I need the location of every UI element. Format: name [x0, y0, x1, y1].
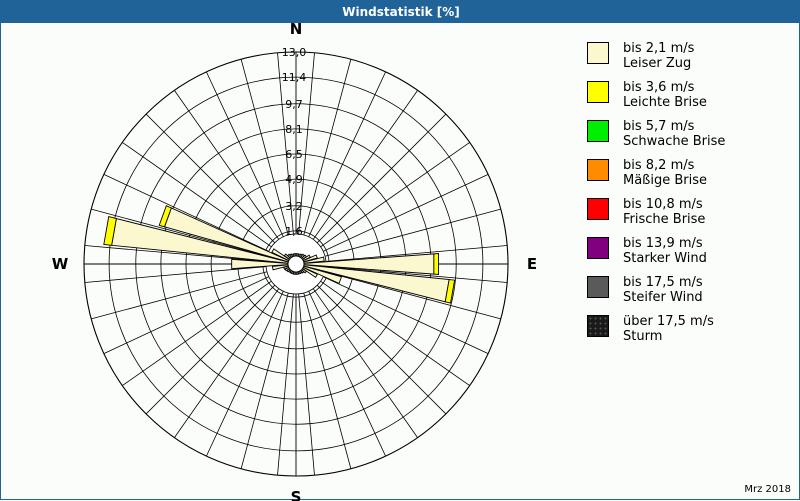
compass-label-east: E [527, 255, 537, 273]
legend-name: Steifer Wind [623, 290, 703, 305]
legend-label: bis 3,6 m/sLeichte Brise [623, 80, 707, 110]
legend-color-swatch [587, 42, 609, 64]
legend-color-swatch [587, 81, 609, 103]
grid-spoke [302, 114, 446, 258]
compass-label-north: N [290, 23, 303, 38]
legend-label: bis 8,2 m/sMäßige Brise [623, 158, 707, 188]
legend-name: Schwache Brise [623, 134, 725, 149]
legend-color-swatch [587, 198, 609, 220]
legend: bis 2,1 m/sLeiser Zugbis 3,6 m/sLeichte … [587, 41, 797, 353]
grid-spoke [122, 269, 289, 386]
compass-label-west: W [52, 255, 69, 273]
grid-spoke [304, 266, 501, 319]
legend-label: bis 10,8 m/sFrische Brise [623, 197, 705, 227]
grid-spoke [304, 209, 501, 262]
legend-name: Frische Brise [623, 212, 705, 227]
legend-speed: bis 17,5 m/s [623, 275, 703, 290]
legend-speed: bis 5,7 m/s [623, 119, 725, 134]
radial-tick-label: 1,6 [285, 225, 303, 238]
legend-name: Sturm [623, 329, 714, 344]
legend-label: bis 17,5 m/sSteifer Wind [623, 275, 703, 305]
legend-speed: bis 8,2 m/s [623, 158, 707, 173]
legend-item: bis 10,8 m/sFrische Brise [587, 197, 797, 227]
legend-speed: bis 2,1 m/s [623, 41, 694, 56]
legend-label: bis 5,7 m/sSchwache Brise [623, 119, 725, 149]
radial-tick-label: 4,9 [285, 173, 303, 186]
legend-color-swatch [587, 120, 609, 142]
grid-spoke [174, 271, 291, 438]
windrose-petal-segment [293, 254, 295, 257]
legend-item: bis 5,7 m/sSchwache Brise [587, 119, 797, 149]
legend-name: Leichte Brise [623, 95, 707, 110]
windrose-petal-segment [434, 254, 439, 275]
legend-label: bis 2,1 m/sLeiser Zug [623, 41, 694, 71]
grid-spoke [298, 59, 351, 256]
grid-spoke [241, 272, 294, 469]
radial-tick-label: 13,0 [282, 46, 307, 59]
legend-label: bis 13,9 m/sStarker Wind [623, 236, 707, 266]
window-titlebar: Windstatistik [%] [1, 1, 800, 23]
grid-spoke [298, 272, 351, 469]
legend-speed: bis 10,8 m/s [623, 197, 705, 212]
legend-item: bis 2,1 m/sLeiser Zug [587, 41, 797, 71]
compass-label-south: S [291, 488, 302, 501]
legend-name: Starker Wind [623, 251, 707, 266]
grid-spoke [301, 271, 418, 438]
radial-tick-label: 6,5 [285, 148, 303, 161]
grid-spoke [146, 270, 290, 414]
radial-tick-label: 9,7 [285, 98, 303, 111]
windstatistik-window: Windstatistik [%] 1,63,24,96,58,19,711,4… [0, 0, 800, 500]
legend-color-swatch [587, 315, 609, 337]
legend-name: Leiser Zug [623, 56, 694, 71]
footer-date: Mrz 2018 [744, 484, 791, 495]
legend-color-swatch [587, 237, 609, 259]
polar-grid [84, 52, 508, 476]
legend-label: über 17,5 m/sSturm [623, 314, 714, 344]
legend-speed: über 17,5 m/s [623, 314, 714, 329]
grid-spoke [301, 90, 418, 257]
window-title: Windstatistik [%] [342, 5, 459, 19]
legend-speed: bis 13,9 m/s [623, 236, 707, 251]
grid-spoke [91, 266, 288, 319]
legend-speed: bis 3,6 m/s [623, 80, 707, 95]
legend-item: bis 17,5 m/sSteifer Wind [587, 275, 797, 305]
legend-color-swatch [587, 276, 609, 298]
radial-tick-label: 3,2 [285, 200, 303, 213]
legend-item: über 17,5 m/sSturm [587, 314, 797, 344]
radial-tick-label: 8,1 [285, 123, 303, 136]
legend-item: bis 13,9 m/sStarker Wind [587, 236, 797, 266]
legend-name: Mäßige Brise [623, 173, 707, 188]
radial-tick-label: 11,4 [282, 71, 307, 84]
grid-spoke [303, 142, 470, 259]
legend-item: bis 3,6 m/sLeichte Brise [587, 80, 797, 110]
legend-item: bis 8,2 m/sMäßige Brise [587, 158, 797, 188]
legend-color-swatch [587, 159, 609, 181]
